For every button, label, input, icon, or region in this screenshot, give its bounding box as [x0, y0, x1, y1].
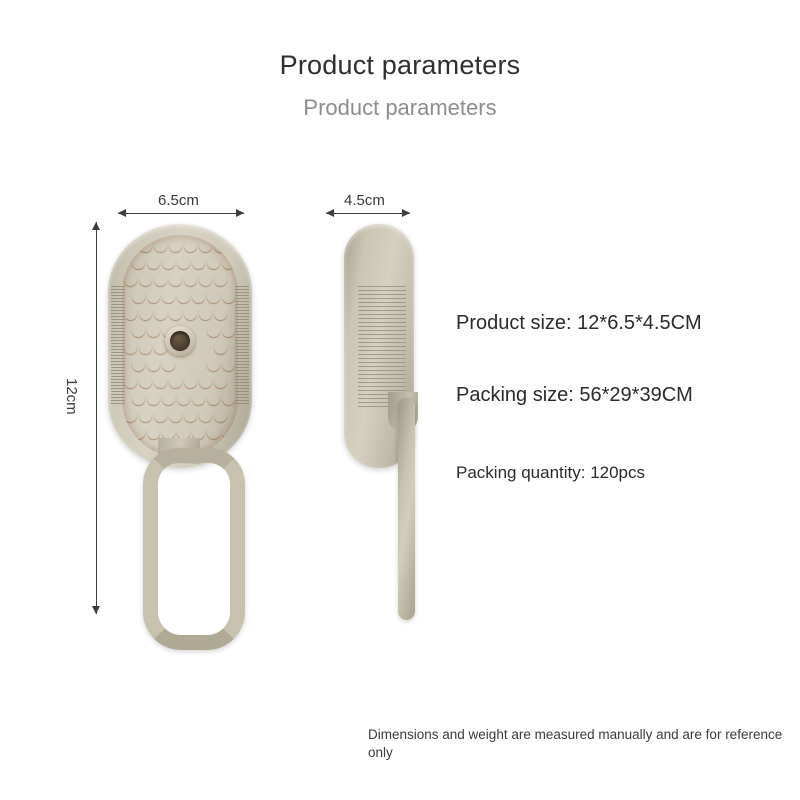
dimension-label-side-width: 4.5cm	[344, 192, 385, 209]
product-front-view	[108, 224, 252, 468]
product-parameters-page: Product parameters Product parameters 6.…	[0, 0, 800, 800]
comb-teeth-left	[111, 286, 125, 406]
page-title: Product parameters	[0, 50, 800, 81]
comb-teeth-right	[235, 286, 249, 406]
handle-side	[398, 398, 415, 620]
spec-packing-quantity: Packing quantity: 120pcs	[456, 463, 645, 483]
center-hole	[165, 326, 195, 356]
handle-loop-front	[143, 448, 245, 650]
dimension-label-front-width: 6.5cm	[158, 192, 199, 209]
footnote-disclaimer: Dimensions and weight are measured manua…	[368, 726, 788, 762]
dimension-arrow-front-width	[118, 209, 244, 218]
page-subtitle: Product parameters	[0, 95, 800, 121]
dimension-arrow-height	[92, 222, 101, 614]
bristles	[318, 232, 352, 460]
dimension-arrow-side-width	[326, 209, 410, 218]
dimension-label-height: 12cm	[63, 378, 80, 415]
spec-packing-size: Packing size: 56*29*39CM	[456, 384, 693, 407]
spec-product-size: Product size: 12*6.5*4.5CM	[456, 312, 702, 335]
